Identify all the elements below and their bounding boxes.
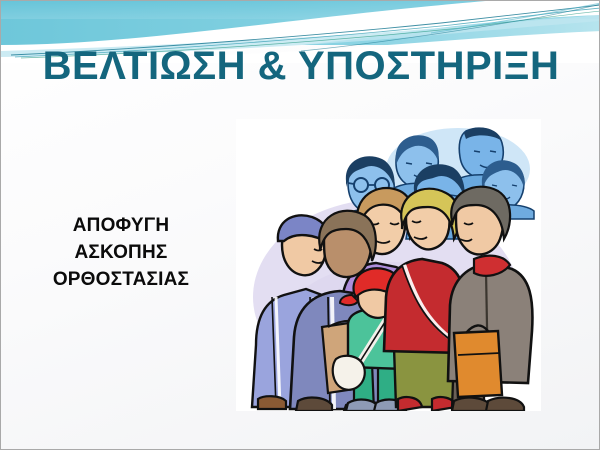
body-line-1: ΑΠΟΦΥΓΗ: [17, 213, 225, 240]
presentation-slide: ΒΕΛΤΙΩΣΗ & ΥΠΟΣΤΗΡΙΞΗ ΑΠΟΦΥΓΗ ΑΣΚΟΠΗΣ ΟΡ…: [0, 0, 600, 450]
orange-briefcase: [454, 325, 502, 397]
body-line-3: ΟΡΘΟΣΤΑΣΙΑΣ: [17, 267, 225, 294]
page-title: ΒΕΛΤΙΩΣΗ & ΥΠΟΣΤΗΡΙΞΗ: [1, 45, 600, 87]
child-satchel-bag: [333, 356, 365, 390]
accent-line-5: [431, 3, 600, 33]
body-line-2: ΑΣΚΟΠΗΣ: [17, 240, 225, 267]
band-fill-top: [1, 1, 600, 19]
clipart-image: [236, 119, 541, 411]
band-fill: [1, 1, 600, 45]
body-text-block: ΑΠΟΦΥΓΗ ΑΣΚΟΠΗΣ ΟΡΘΟΣΤΑΣΙΑΣ: [17, 213, 225, 294]
